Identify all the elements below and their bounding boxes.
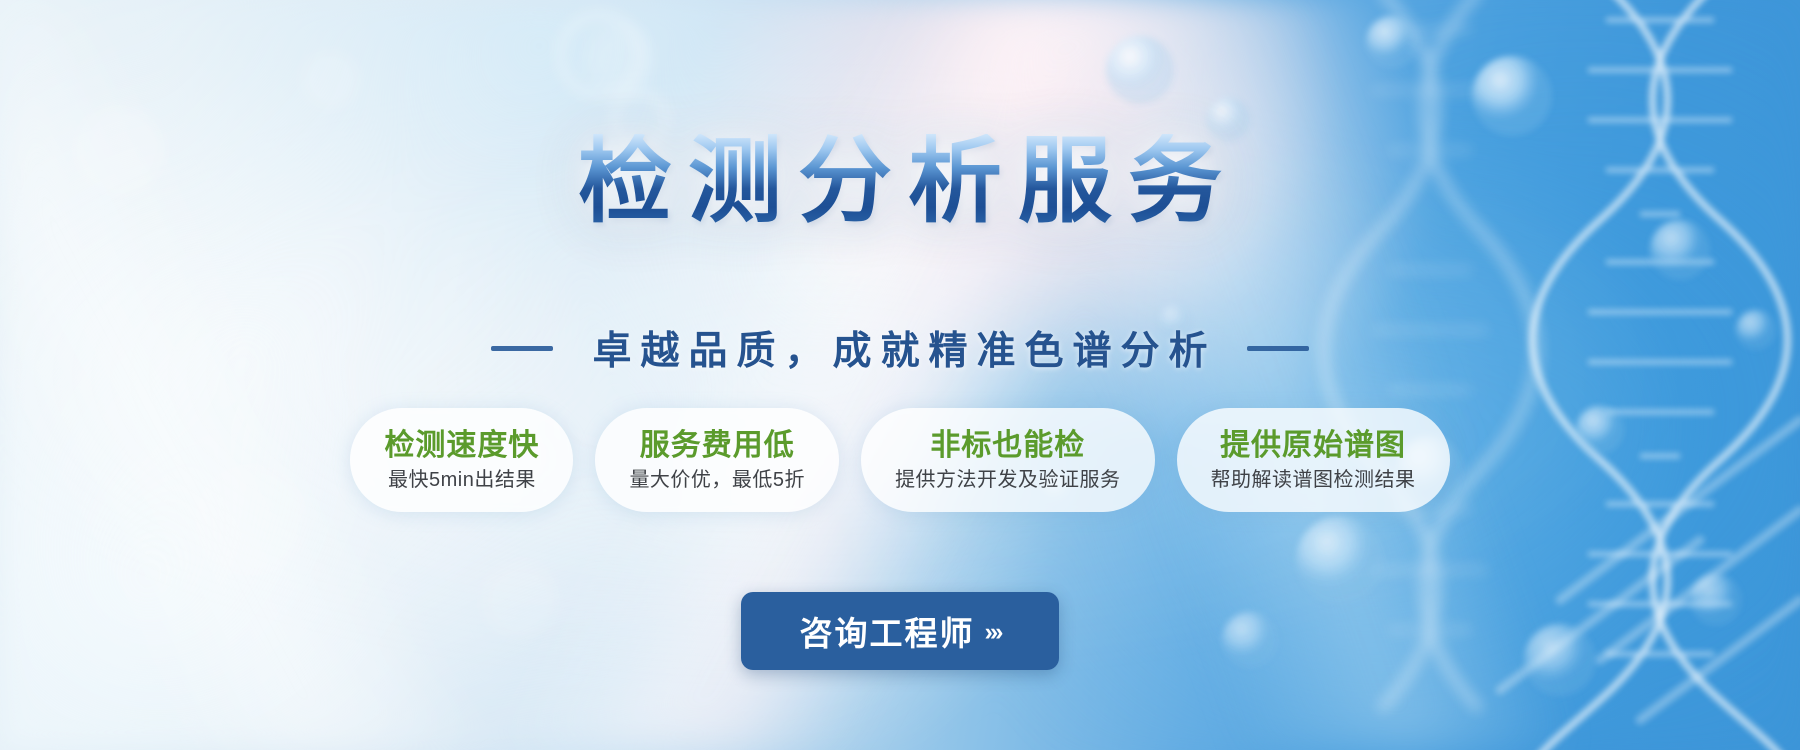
- consult-engineer-button[interactable]: 咨询工程师 ›››: [741, 592, 1059, 670]
- feature-pill-nonstandard[interactable]: 非标也能检 提供方法开发及验证服务: [861, 408, 1155, 512]
- feature-pill-title: 非标也能检: [930, 429, 1085, 463]
- consult-engineer-label: 咨询工程师: [800, 607, 975, 655]
- page-title-text: 检测分析服务: [562, 134, 1238, 228]
- feature-pill-subtitle: 提供方法开发及验证服务: [895, 469, 1121, 491]
- feature-pill-speed[interactable]: 检测速度快 最快5min出结果: [350, 408, 573, 512]
- feature-pill-raw-spectra[interactable]: 提供原始谱图 帮助解读谱图检测结果: [1177, 408, 1450, 512]
- feature-pill-title: 提供原始谱图: [1220, 429, 1406, 463]
- subtitle-row: 卓越品质，成就精准色谱分析: [0, 320, 1800, 376]
- feature-pill-title: 服务费用低: [640, 429, 795, 463]
- subtitle-rule-left: [491, 346, 553, 351]
- page-title: 检测分析服务: [0, 134, 1800, 228]
- feature-pill-subtitle: 帮助解读谱图检测结果: [1211, 469, 1416, 491]
- subtitle-rule-right: [1247, 346, 1309, 351]
- feature-pill-title: 检测速度快: [384, 429, 539, 463]
- hero-banner: 检测分析服务 卓越品质，成就精准色谱分析 检测速度快 最快5min出结果 服务费…: [0, 0, 1800, 750]
- feature-pill-subtitle: 量大价优，最低5折: [629, 469, 805, 491]
- feature-pill-subtitle: 最快5min出结果: [388, 469, 536, 491]
- feature-pill-list: 检测速度快 最快5min出结果 服务费用低 量大价优，最低5折 非标也能检 提供…: [0, 408, 1800, 512]
- cta-row: 咨询工程师 ›››: [0, 592, 1800, 670]
- chevron-right-triple-icon: ›››: [985, 618, 1001, 647]
- subtitle-text: 卓越品质，成就精准色谱分析: [583, 320, 1216, 376]
- banner-content: 检测分析服务 卓越品质，成就精准色谱分析 检测速度快 最快5min出结果 服务费…: [0, 0, 1800, 750]
- feature-pill-cost[interactable]: 服务费用低 量大价优，最低5折: [595, 408, 839, 512]
